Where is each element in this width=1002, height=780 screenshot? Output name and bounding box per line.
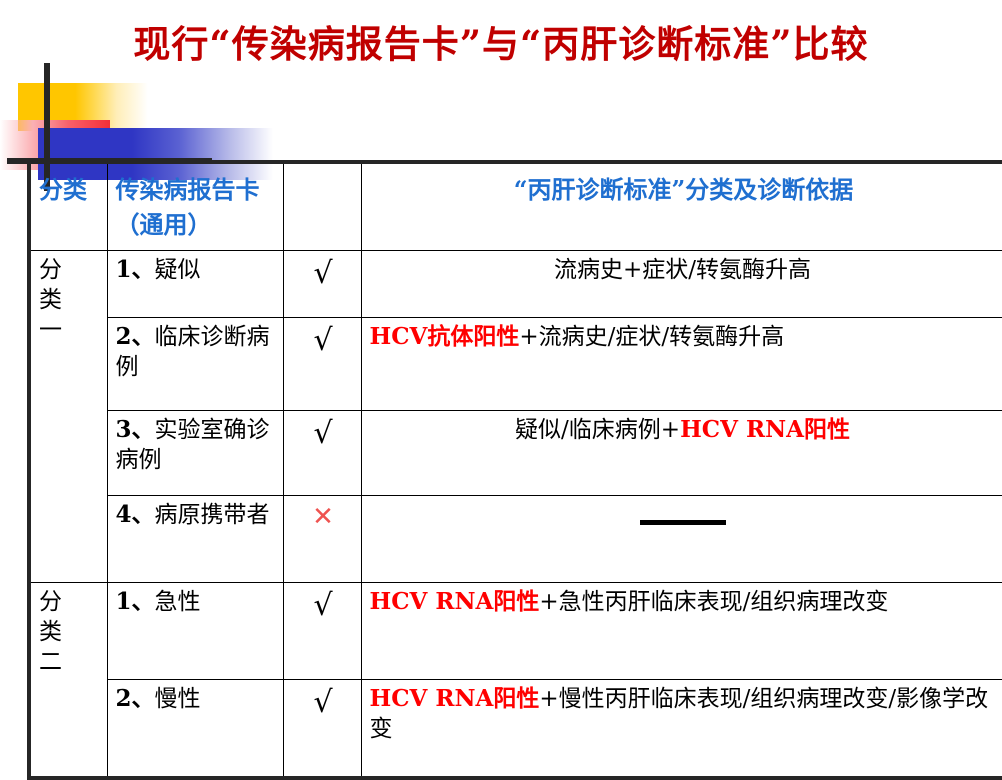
cell-mark: √ [283, 251, 361, 318]
cell-diagnostic-basis: HCV RNA阳性+急性丙肝临床表现/组织病理改变 [361, 583, 1002, 680]
table-row: 2、慢性√HCV RNA阳性+慢性丙肝临床表现/组织病理改变/影像学改变 [29, 680, 1002, 779]
cell-report-card-item: 4、病原携带者 [107, 496, 283, 583]
basis-text-highlight: HCV抗体阳性 [370, 323, 520, 350]
basis-text: +急性丙肝临床表现/组织病理改变 [539, 589, 888, 615]
comparison-table: 分类 传染病报告卡（通用） “丙肝诊断标准”分类及诊断依据 分类一1、疑似√流病… [27, 160, 1002, 780]
cell-report-card-item: 2、临床诊断病例 [107, 318, 283, 411]
item-number: 1、 [116, 588, 155, 615]
category-char: 一 [39, 315, 101, 345]
basis-text: 流病史+症状/转氨酶升高 [554, 257, 811, 283]
header-cell-category: 分类 [29, 162, 107, 251]
cell-report-card-item: 1、急性 [107, 583, 283, 680]
item-number: 2、 [116, 685, 155, 712]
header-cell-report-card: 传染病报告卡（通用） [107, 162, 283, 251]
basis-text: 疑似/临床病例+ [515, 417, 680, 443]
item-text: 慢性 [155, 686, 201, 712]
table-header-row: 分类 传染病报告卡（通用） “丙肝诊断标准”分类及诊断依据 [29, 162, 1002, 251]
table-row: 2、临床诊断病例√HCV抗体阳性+流病史/症状/转氨酶升高 [29, 318, 1002, 411]
category-char: 分 [39, 587, 101, 617]
decorative-corner-graphic [0, 60, 310, 170]
cell-mark: ✕ [283, 496, 361, 583]
cell-report-card-item: 3、实验室确诊病例 [107, 411, 283, 496]
comparison-table-wrapper: 分类 传染病报告卡（通用） “丙肝诊断标准”分类及诊断依据 分类一1、疑似√流病… [27, 160, 1002, 780]
cell-diagnostic-basis: HCV抗体阳性+流病史/症状/转氨酶升高 [361, 318, 1002, 411]
cell-category-group: 分类一 [29, 251, 107, 583]
header-cell-basis: “丙肝诊断标准”分类及诊断依据 [361, 162, 1002, 251]
cell-category-group: 分类二 [29, 583, 107, 779]
category-char: 类 [39, 617, 101, 647]
header-cell-mark [283, 162, 361, 251]
decor-yellow-block [18, 83, 148, 131]
cell-diagnostic-basis: HCV RNA阳性+慢性丙肝临床表现/组织病理改变/影像学改变 [361, 680, 1002, 779]
check-icon: √ [313, 255, 332, 293]
cell-report-card-item: 1、疑似 [107, 251, 283, 318]
cell-report-card-item: 2、慢性 [107, 680, 283, 779]
cell-diagnostic-basis: 疑似/临床病例+HCV RNA阳性 [361, 411, 1002, 496]
table-row: 分类一1、疑似√流病史+症状/转氨酶升高 [29, 251, 1002, 318]
item-text: 疑似 [155, 257, 201, 283]
cell-mark: √ [283, 583, 361, 680]
category-char: 类 [39, 285, 101, 315]
basis-text-highlight: HCV RNA阳性 [370, 685, 540, 712]
item-number: 2、 [116, 323, 155, 350]
item-text: 急性 [155, 589, 201, 615]
table-row: 分类二1、急性√HCV RNA阳性+急性丙肝临床表现/组织病理改变 [29, 583, 1002, 680]
comparison-table-body: 分类 传染病报告卡（通用） “丙肝诊断标准”分类及诊断依据 分类一1、疑似√流病… [29, 162, 1002, 778]
check-icon: √ [313, 322, 332, 360]
item-number: 3、 [116, 416, 155, 443]
cell-diagnostic-basis: 流病史+症状/转氨酶升高 [361, 251, 1002, 318]
category-char: 二 [39, 647, 101, 677]
cell-mark: √ [283, 318, 361, 411]
item-text: 病原携带者 [155, 502, 270, 528]
basis-text: +流病史/症状/转氨酶升高 [519, 324, 784, 350]
basis-text-highlight: HCV RNA阳性 [680, 416, 850, 443]
cell-mark: √ [283, 680, 361, 779]
cross-icon: ✕ [312, 500, 334, 534]
check-icon: √ [313, 587, 332, 625]
basis-text-highlight: HCV RNA阳性 [370, 588, 540, 615]
item-number: 4、 [116, 501, 155, 528]
cell-diagnostic-basis [361, 496, 1002, 583]
table-row: 4、病原携带者✕ [29, 496, 1002, 583]
check-icon: √ [313, 684, 332, 722]
cell-mark: √ [283, 411, 361, 496]
category-char: 分 [39, 255, 101, 285]
slide-title: 现行“传染病报告卡”与“丙肝诊断标准”比较 [0, 22, 1002, 66]
item-number: 1、 [116, 256, 155, 283]
table-row: 3、实验室确诊病例√疑似/临床病例+HCV RNA阳性 [29, 411, 1002, 496]
check-icon: √ [313, 415, 332, 453]
not-applicable-dash [640, 520, 726, 525]
